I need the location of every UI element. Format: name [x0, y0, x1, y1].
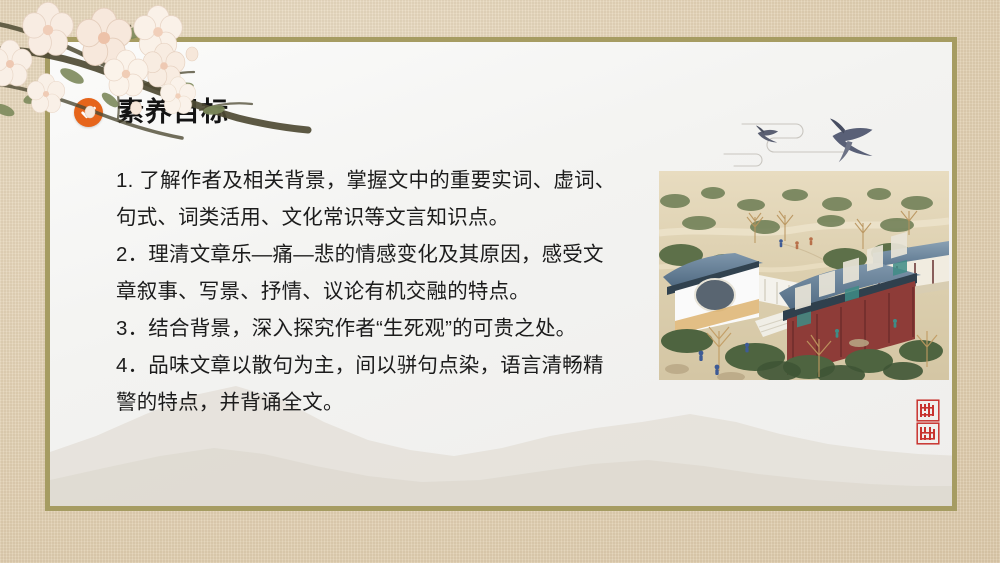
red-chinese-seal-stamp [915, 398, 941, 446]
check-circle-icon [74, 98, 103, 127]
objective-line: 2．理清文章乐—痛—悲的情感变化及其原因，感受文 [116, 236, 646, 273]
objective-line: 句式、词类活用、文化常识等文言知识点。 [116, 199, 646, 236]
objective-line: 警的特点，并背诵全文。 [116, 384, 646, 421]
section-heading: 素养目标 [74, 98, 229, 127]
swallow-icon [830, 119, 873, 163]
objective-line: 3．结合背景，深入探究作者“生死观”的可贵之处。 [116, 310, 646, 347]
flying-swallows-icon [712, 110, 902, 172]
swallow-icon [756, 125, 778, 142]
objective-line: 1. 了解作者及相关背景，掌握文中的重要实词、虚词、 [116, 162, 646, 199]
slide-canvas: 素养目标 1. 了解作者及相关背景，掌握文中的重要实词、虚词、 句式、词类活用、… [0, 0, 1000, 563]
objectives-list: 1. 了解作者及相关背景，掌握文中的重要实词、虚词、 句式、词类活用、文化常识等… [116, 162, 646, 421]
objective-line: 章叙事、写景、抒情、议论有机交融的特点。 [116, 273, 646, 310]
content-frame: 素养目标 1. 了解作者及相关背景，掌握文中的重要实词、虚词、 句式、词类活用、… [45, 37, 957, 511]
page-title: 素养目标 [117, 99, 229, 126]
objective-line: 4．品味文章以散句为主，间以骈句点染，语言清畅精 [116, 347, 646, 384]
chinese-garden-pavilion-painting [659, 171, 949, 380]
